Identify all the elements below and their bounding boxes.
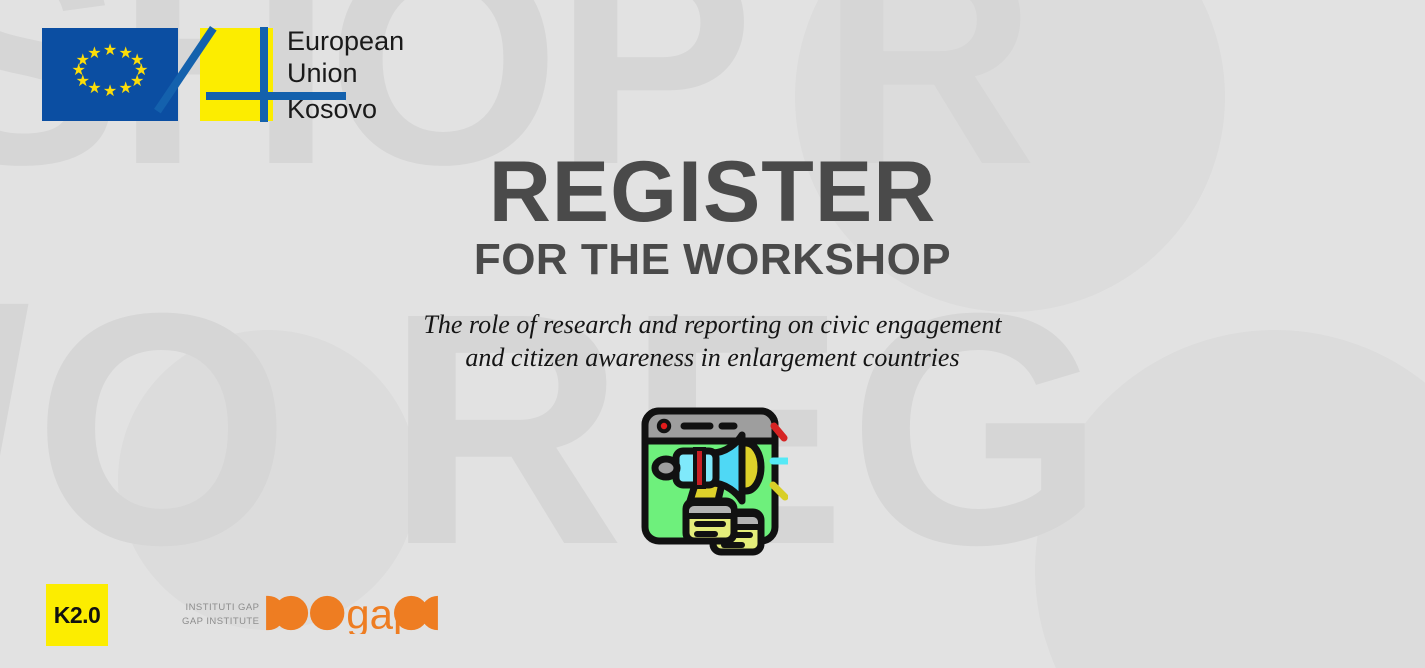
eu-star: ★ bbox=[87, 46, 101, 62]
eu-star: ★ bbox=[103, 43, 117, 59]
megaphone-announcement-icon bbox=[638, 405, 788, 560]
eu-star: ★ bbox=[118, 81, 132, 97]
eu-word-european: European bbox=[287, 28, 404, 56]
gap-dots-mark: gap bbox=[266, 592, 438, 639]
page-subtitle: FOR THE WORKSHOP bbox=[0, 238, 1425, 282]
message-card-front-header bbox=[686, 503, 734, 516]
browser-record-dot-icon bbox=[659, 421, 669, 431]
description-line-2: and citizen awareness in enlargement cou… bbox=[0, 341, 1425, 374]
gap-line-english: GAP INSTITUTE bbox=[182, 615, 259, 629]
eu4kosovo-wordmark: European Union Kosovo bbox=[287, 28, 404, 124]
gap-institute-logo: INSTITUTI GAP GAP INSTITUTE gap bbox=[182, 592, 438, 639]
k2-0-logo: K2.0 bbox=[46, 584, 108, 646]
description-line-1: The role of research and reporting on ci… bbox=[0, 308, 1425, 341]
gap-line-albanian: INSTITUTI GAP bbox=[182, 601, 259, 615]
headline-block: REGISTER FOR THE WORKSHOP The role of re… bbox=[0, 152, 1425, 374]
megaphone-knob bbox=[655, 459, 677, 477]
eu-word-union: Union bbox=[287, 60, 404, 88]
eu-kosovo-logo-lockup: ★ ★ ★ ★ ★ ★ ★ ★ ★ ★ ★ ★ European Union K… bbox=[42, 28, 404, 124]
four-vertical-stroke bbox=[260, 27, 268, 122]
numeral-four-mark bbox=[200, 28, 273, 121]
megaphone-browser-illustration bbox=[638, 405, 788, 560]
watermark-blob-bottom-right bbox=[1035, 330, 1425, 668]
eu4kosovo-logo: European Union Kosovo bbox=[200, 28, 404, 124]
gap-mark-svg: gap bbox=[266, 592, 438, 634]
four-horizontal-stroke bbox=[206, 92, 346, 100]
gap-institute-wordmark: INSTITUTI GAP GAP INSTITUTE bbox=[182, 601, 259, 629]
page-title: REGISTER bbox=[0, 152, 1425, 234]
megaphone-stripe bbox=[695, 449, 704, 487]
workshop-description: The role of research and reporting on ci… bbox=[0, 308, 1425, 374]
eu-word-kosovo: Kosovo bbox=[287, 96, 404, 124]
gap-circle bbox=[310, 595, 344, 629]
partner-logos: K2.0 INSTITUTI GAP GAP INSTITUTE gap bbox=[46, 584, 438, 646]
gap-circle bbox=[274, 595, 308, 629]
k2-0-label: K2.0 bbox=[54, 602, 101, 629]
eu-star: ★ bbox=[103, 84, 117, 100]
